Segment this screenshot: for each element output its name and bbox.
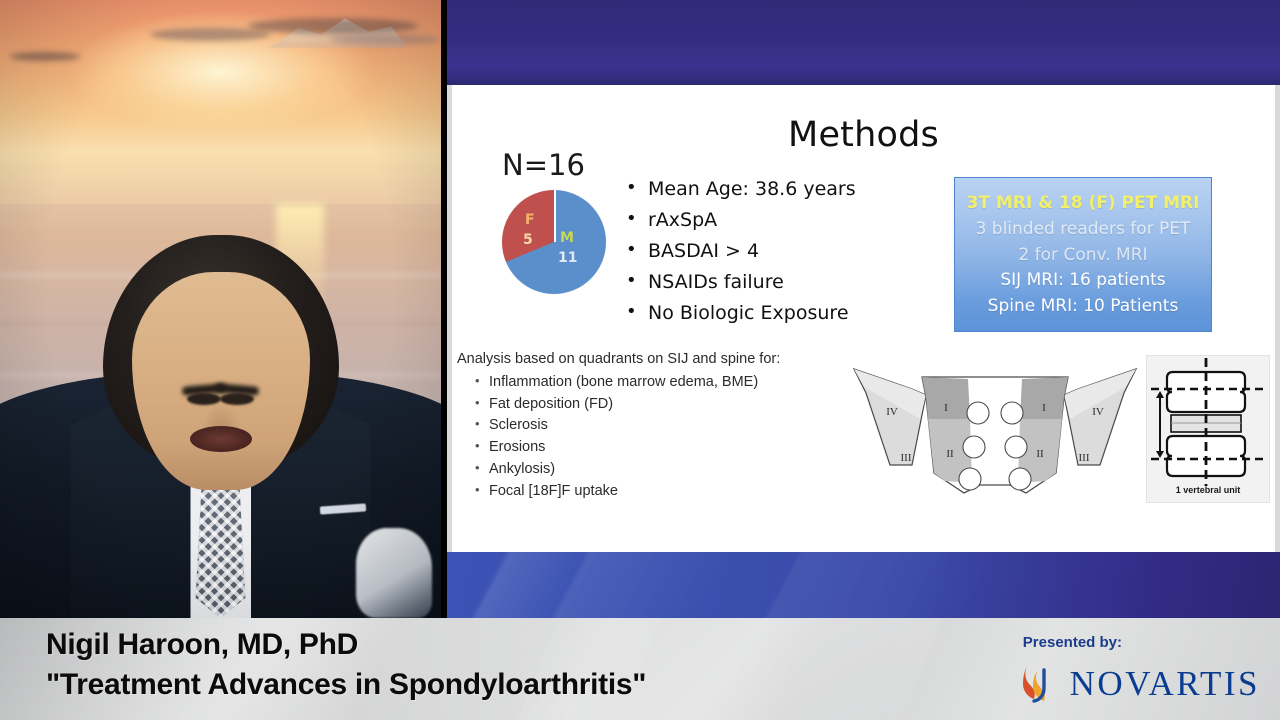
pie-label-female: F bbox=[525, 212, 535, 228]
list-item: Ankylosis) bbox=[457, 459, 857, 481]
mouth bbox=[190, 426, 252, 452]
slide-viewer[interactable]: Methods N=16 F 5 M 11 Mean Age: 38.6 yea… bbox=[447, 0, 1280, 618]
list-item: Erosions bbox=[457, 437, 857, 459]
lower-third-banner: Nigil Haroon, MD, PhD "Treatment Advance… bbox=[0, 618, 1280, 720]
analysis-heading: Analysis based on quadrants on SIJ and s… bbox=[457, 349, 857, 371]
protocol-line-3: 2 for Conv. MRI bbox=[955, 243, 1211, 269]
presented-by-label: Presented by: bbox=[1023, 634, 1122, 651]
foramen bbox=[959, 468, 981, 490]
novartis-logo: NOVARTIS bbox=[1018, 662, 1260, 704]
pie-slices bbox=[502, 190, 606, 294]
speaker-figure bbox=[0, 0, 441, 618]
pie-value-male: 11 bbox=[558, 250, 577, 266]
slide-content-area: Methods N=16 F 5 M 11 Mean Age: 38.6 yea… bbox=[452, 85, 1275, 552]
foramen bbox=[967, 402, 989, 424]
protocol-line-5: Spine MRI: 10 Patients bbox=[955, 294, 1211, 320]
speaker-name: Nigil Haroon, MD, PhD bbox=[46, 628, 358, 662]
protocol-line-1: 3T MRI & 18 (F) PET MRI bbox=[955, 191, 1211, 217]
list-item: rAxSpA bbox=[622, 208, 882, 233]
vertebral-unit-svg bbox=[1147, 356, 1269, 488]
quadrant-label-II: II bbox=[1036, 448, 1044, 460]
patient-characteristics-list: Mean Age: 38.6 years rAxSpA BASDAI > 4 N… bbox=[622, 177, 882, 332]
list-item: Sclerosis bbox=[457, 415, 857, 437]
flame-left bbox=[1023, 666, 1035, 699]
analysis-section: Analysis based on quadrants on SIJ and s… bbox=[457, 349, 857, 502]
foramen bbox=[1001, 402, 1023, 424]
quadrant-label-II: II bbox=[946, 448, 954, 460]
foramen bbox=[1009, 468, 1031, 490]
quadrant-label-I: I bbox=[1042, 402, 1046, 414]
pie-value-female: 5 bbox=[523, 232, 533, 248]
novartis-wordmark: NOVARTIS bbox=[1070, 666, 1260, 701]
pie-divider bbox=[554, 190, 556, 242]
quadrant-label-III: III bbox=[901, 452, 912, 464]
list-item: Fat deposition (FD) bbox=[457, 394, 857, 416]
gender-pie-chart: F 5 M 11 bbox=[502, 190, 606, 294]
face bbox=[132, 272, 310, 490]
vertebral-unit-caption: 1 vertebral unit bbox=[1147, 485, 1269, 495]
list-item: Inflammation (bone marrow edema, BME) bbox=[457, 372, 857, 394]
analysis-list: Inflammation (bone marrow edema, BME) Fa… bbox=[457, 372, 857, 503]
foramen bbox=[1005, 436, 1027, 458]
list-item: BASDAI > 4 bbox=[622, 239, 882, 264]
imaging-protocol-box: 3T MRI & 18 (F) PET MRI 3 blinded reader… bbox=[954, 177, 1212, 332]
quadrant-label-I: I bbox=[944, 402, 948, 414]
novartis-flame-icon bbox=[1018, 662, 1058, 704]
quadrant-label-IV: IV bbox=[886, 406, 898, 418]
speaker-webcam-video[interactable] bbox=[0, 0, 441, 618]
protocol-line-4: SIJ MRI: 16 patients bbox=[955, 268, 1211, 294]
sample-size-label: N=16 bbox=[502, 148, 585, 182]
list-item: Focal [18F]F uptake bbox=[457, 481, 857, 503]
list-item: Mean Age: 38.6 years bbox=[622, 177, 882, 202]
slide-background-bottom bbox=[447, 552, 1280, 618]
anatomy-diagrams: IV I I IV III II II III bbox=[850, 355, 1270, 515]
list-item: NSAIDs failure bbox=[622, 270, 882, 295]
presentation-screen: Methods N=16 F 5 M 11 Mean Age: 38.6 yea… bbox=[0, 0, 1280, 720]
background-streak bbox=[748, 552, 1006, 618]
quadrant-label-IV: IV bbox=[1092, 406, 1104, 418]
hand bbox=[356, 528, 432, 618]
protocol-line-2: 3 blinded readers for PET bbox=[955, 217, 1211, 243]
slide-background-top bbox=[447, 0, 1280, 85]
sij-quadrant-diagram: IV I I IV III II II III bbox=[850, 357, 1140, 507]
quadrant-label-III: III bbox=[1079, 452, 1090, 464]
pie-label-male: M bbox=[560, 230, 574, 246]
talk-title: "Treatment Advances in Spondyloarthritis… bbox=[46, 668, 646, 702]
list-item: No Biologic Exposure bbox=[622, 301, 882, 326]
vertebral-unit-diagram: 1 vertebral unit bbox=[1146, 355, 1270, 503]
foramen bbox=[963, 436, 985, 458]
